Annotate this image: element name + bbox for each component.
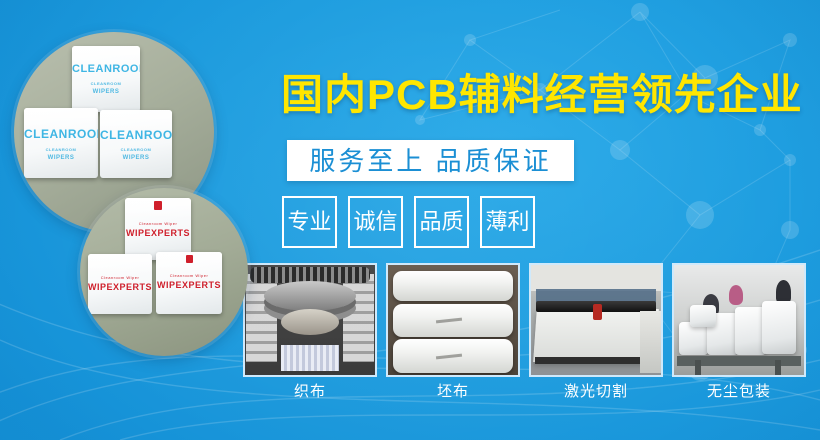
wipe-pack: Cleanroom Wiper WIPEXPERTS — [88, 254, 152, 314]
thumbnail-caption: 无尘包装 — [672, 384, 806, 399]
feature-tag-label: 诚信 — [353, 211, 397, 233]
process-thumbnail-list: 织布 坯布 — [243, 263, 806, 399]
wipe-pack: CLEANROOM CLEANROOM WIPERS — [72, 46, 140, 112]
fabric-rolls-image — [388, 265, 518, 375]
banner-subtitle-text: 服务至上 品质保证 — [309, 148, 551, 174]
feature-tag-low-margin[interactable]: 薄利 — [480, 196, 535, 248]
cleanroom-packing-image — [674, 265, 804, 375]
red-tab-marker — [154, 201, 162, 210]
feature-tag-label: 专业 — [287, 211, 331, 233]
feature-tag-integrity[interactable]: 诚信 — [348, 196, 403, 248]
process-thumbnail-weaving[interactable]: 织布 — [243, 263, 377, 399]
wipe-pack: CLEANROOM CLEANROOM WIPERS — [100, 110, 172, 178]
wipe-pack: CLEANROOM CLEANROOM WIPERS — [24, 108, 98, 178]
thumbnail-frame — [529, 263, 663, 377]
process-thumbnail-greige-fabric[interactable]: 坯布 — [386, 263, 520, 399]
thumbnail-caption: 激光切割 — [529, 384, 663, 399]
banner-subtitle-bar: 服务至上 品质保证 — [287, 140, 574, 181]
feature-tag-label: 品质 — [419, 211, 463, 233]
thumbnail-frame — [386, 263, 520, 377]
feature-tag-label: 薄利 — [485, 211, 529, 233]
feature-tag-quality[interactable]: 品质 — [414, 196, 469, 248]
process-thumbnail-laser-cutting[interactable]: 激光切割 — [529, 263, 663, 399]
wipe-pack: Cleanroom Wiper WIPEXPERTS — [156, 252, 222, 314]
wipe-pack: Cleanroom Wiper WIPEXPERTS — [125, 198, 191, 260]
thumbnail-caption: 织布 — [243, 384, 377, 399]
process-thumbnail-cleanroom-packing[interactable]: 无尘包装 — [672, 263, 806, 399]
promo-banner: CLEANROOM CLEANROOM WIPERS CLEANROOM CLE… — [0, 0, 820, 440]
banner-headline: 国内PCB辅料经营领先企业 — [281, 74, 803, 116]
thumbnail-frame — [243, 263, 377, 377]
product-photo-wipexperts: Cleanroom Wiper WIPEXPERTS Cleanroom Wip… — [80, 188, 248, 356]
knitting-machine-image — [245, 265, 375, 375]
laser-cutter-image — [531, 265, 661, 375]
red-tab-marker — [186, 255, 193, 263]
feature-tag-list: 专业 诚信 品质 薄利 — [282, 196, 535, 248]
feature-tag-professional[interactable]: 专业 — [282, 196, 337, 248]
thumbnail-frame — [672, 263, 806, 377]
thumbnail-caption: 坯布 — [386, 384, 520, 399]
